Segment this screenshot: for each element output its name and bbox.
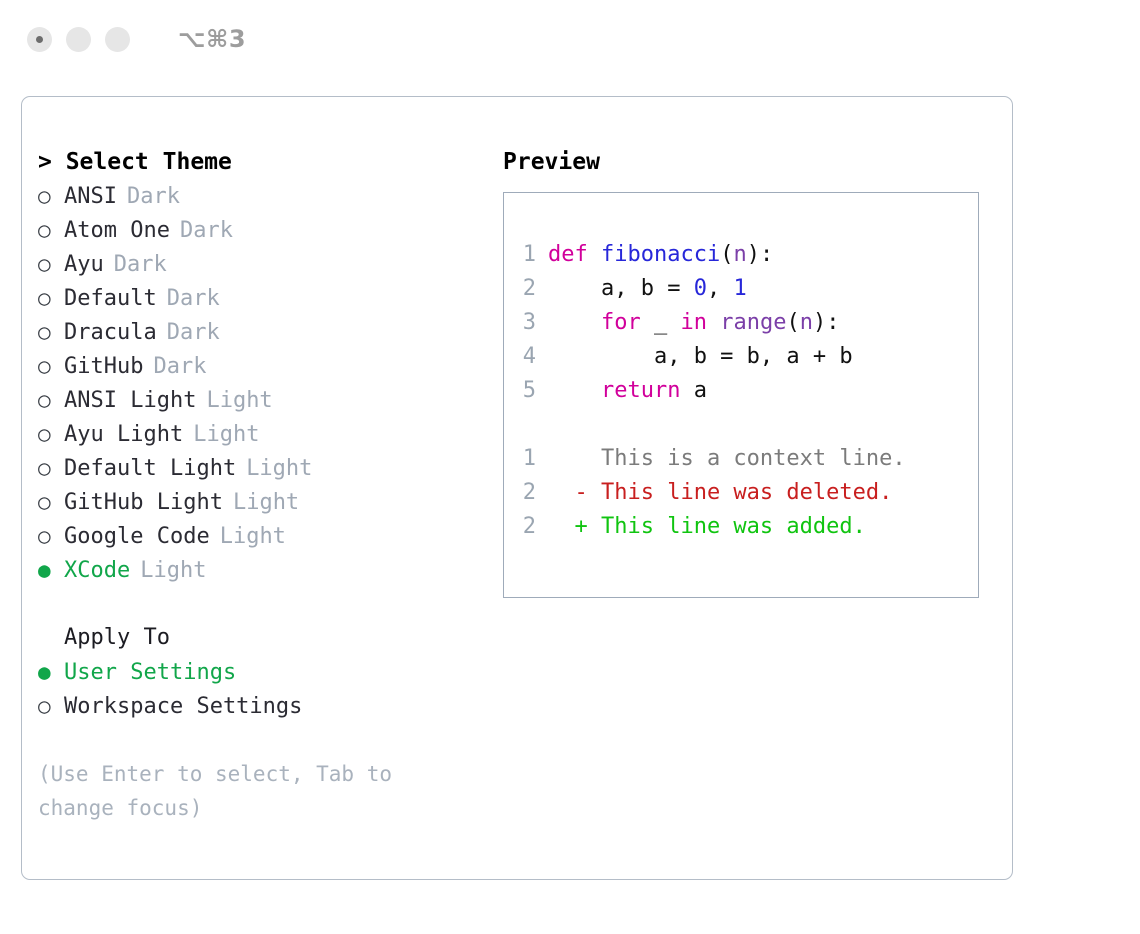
theme-option-kind: Dark bbox=[180, 214, 233, 248]
theme-selection-column: > Select Theme ○ANSIDark○Atom OneDark○Ay… bbox=[38, 145, 488, 825]
code-token-punc: , bbox=[707, 276, 734, 301]
code-token-var: range bbox=[720, 310, 786, 335]
apply-to-option-workspace-settings[interactable]: ○Workspace Settings bbox=[38, 689, 488, 723]
theme-option-name: Default bbox=[64, 282, 157, 316]
diff-line-text: This is a context line. bbox=[548, 442, 906, 476]
theme-option-name: Ayu bbox=[64, 248, 104, 282]
theme-option-kind: Light bbox=[220, 520, 286, 554]
theme-option-dracula[interactable]: ○DraculaDark bbox=[38, 315, 488, 349]
code-token-punc bbox=[548, 310, 601, 335]
radio-selected-icon: ● bbox=[38, 553, 64, 587]
maximize-button-icon[interactable] bbox=[105, 27, 130, 52]
select-theme-header: > Select Theme bbox=[38, 145, 488, 179]
theme-option-name: XCode bbox=[64, 554, 130, 588]
radio-unselected-icon: ○ bbox=[38, 349, 64, 383]
radio-unselected-icon: ○ bbox=[38, 213, 64, 247]
apply-to-option-label: User Settings bbox=[64, 656, 236, 690]
code-token-punc bbox=[548, 378, 601, 403]
radio-unselected-icon: ○ bbox=[38, 451, 64, 485]
theme-option-kind: Light bbox=[233, 486, 299, 520]
theme-option-name: GitHub bbox=[64, 350, 143, 384]
apply-to-header: Apply To bbox=[38, 621, 488, 655]
code-token-punc: ): bbox=[813, 310, 840, 335]
window-controls bbox=[27, 27, 130, 52]
theme-option-name: Default Light bbox=[64, 452, 236, 486]
theme-list[interactable]: ○ANSIDark○Atom OneDark○AyuDark○DefaultDa… bbox=[38, 179, 488, 587]
keyboard-hint-text: (Use Enter to select, Tab to change focu… bbox=[38, 757, 458, 825]
code-line: 2 a, b = 0, 1 bbox=[504, 272, 978, 306]
theme-option-kind: Dark bbox=[114, 248, 167, 282]
theme-option-ayu[interactable]: ○AyuDark bbox=[38, 247, 488, 281]
theme-option-github-light[interactable]: ○GitHub LightLight bbox=[38, 485, 488, 519]
theme-option-kind: Light bbox=[206, 384, 272, 418]
diff-sample: 1 This is a context line.2 - This line w… bbox=[504, 442, 978, 544]
code-token-punc: ( bbox=[720, 242, 733, 267]
theme-option-kind: Dark bbox=[167, 316, 220, 350]
code-line: 3 for _ in range(n): bbox=[504, 306, 978, 340]
code-line: 4 a, b = b, a + b bbox=[504, 340, 978, 374]
theme-option-kind: Light bbox=[140, 554, 206, 588]
code-line-text: def fibonacci(n): bbox=[548, 238, 773, 272]
radio-unselected-icon: ○ bbox=[38, 247, 64, 281]
diff-line: 2 + This line was added. bbox=[504, 510, 978, 544]
code-token-kw: def bbox=[548, 242, 601, 267]
theme-option-name: GitHub Light bbox=[64, 486, 223, 520]
code-line: 5 return a bbox=[504, 374, 978, 408]
code-line: 1def fibonacci(n): bbox=[504, 238, 978, 272]
theme-option-name: ANSI Light bbox=[64, 384, 196, 418]
window-titlebar: ⌥⌘3 bbox=[0, 0, 1140, 78]
theme-option-name: Google Code bbox=[64, 520, 210, 554]
apply-to-option-label: Workspace Settings bbox=[64, 690, 302, 724]
theme-option-kind: Dark bbox=[167, 282, 220, 316]
radio-unselected-icon: ○ bbox=[38, 417, 64, 451]
radio-unselected-icon: ○ bbox=[38, 383, 64, 417]
apply-to-options[interactable]: ●User Settings○Workspace Settings bbox=[38, 655, 488, 723]
code-token-fn: fibonacci bbox=[601, 242, 720, 267]
theme-option-kind: Light bbox=[193, 418, 259, 452]
code-line-text: return a bbox=[548, 374, 707, 408]
code-line-number: 3 bbox=[504, 306, 548, 340]
theme-option-name: Ayu Light bbox=[64, 418, 183, 452]
window-title: ⌥⌘3 bbox=[178, 25, 246, 53]
diff-line-number: 2 bbox=[504, 510, 548, 544]
code-token-kw: for bbox=[601, 310, 641, 335]
main-panel: > Select Theme ○ANSIDark○Atom OneDark○Ay… bbox=[21, 96, 1013, 880]
theme-option-xcode[interactable]: ●XCodeLight bbox=[38, 553, 488, 587]
code-line-number: 4 bbox=[504, 340, 548, 374]
theme-option-ansi[interactable]: ○ANSIDark bbox=[38, 179, 488, 213]
theme-option-name: ANSI bbox=[64, 180, 117, 214]
theme-option-ansi-light[interactable]: ○ANSI LightLight bbox=[38, 383, 488, 417]
code-token-punc: ): bbox=[747, 242, 774, 267]
code-diff-separator bbox=[504, 408, 978, 442]
radio-unselected-icon: ○ bbox=[38, 689, 64, 723]
diff-line-number: 1 bbox=[504, 442, 548, 476]
radio-unselected-icon: ○ bbox=[38, 315, 64, 349]
code-line-number: 5 bbox=[504, 374, 548, 408]
theme-option-default-light[interactable]: ○Default LightLight bbox=[38, 451, 488, 485]
diff-line: 1 This is a context line. bbox=[504, 442, 978, 476]
preview-box: 1def fibonacci(n):2 a, b = 0, 13 for _ i… bbox=[503, 192, 979, 598]
code-line-number: 2 bbox=[504, 272, 548, 306]
code-token-num: 1 bbox=[733, 276, 746, 301]
code-token-punc bbox=[707, 310, 720, 335]
theme-option-kind: Light bbox=[246, 452, 312, 486]
code-sample: 1def fibonacci(n):2 a, b = 0, 13 for _ i… bbox=[504, 238, 978, 408]
apply-to-option-user-settings[interactable]: ●User Settings bbox=[38, 655, 488, 689]
code-token-var: n bbox=[733, 242, 746, 267]
radio-unselected-icon: ○ bbox=[38, 519, 64, 553]
code-token-kw: in bbox=[680, 310, 707, 335]
theme-option-github[interactable]: ○GitHubDark bbox=[38, 349, 488, 383]
code-line-text: a, b = 0, 1 bbox=[548, 272, 747, 306]
code-token-punc: a bbox=[680, 378, 707, 403]
code-line-number: 1 bbox=[504, 238, 548, 272]
diff-line-number: 2 bbox=[504, 476, 548, 510]
apply-to-section: Apply To ●User Settings○Workspace Settin… bbox=[38, 621, 488, 723]
code-token-num: 0 bbox=[694, 276, 707, 301]
minimize-button-icon[interactable] bbox=[66, 27, 91, 52]
code-line-text: for _ in range(n): bbox=[548, 306, 839, 340]
theme-option-name: Dracula bbox=[64, 316, 157, 350]
theme-option-kind: Dark bbox=[153, 350, 206, 384]
code-token-punc: a, b = bbox=[548, 276, 694, 301]
radio-unselected-icon: ○ bbox=[38, 281, 64, 315]
code-token-punc: a, b = b, a + b bbox=[548, 344, 853, 369]
radio-unselected-icon: ○ bbox=[38, 179, 64, 213]
radio-unselected-icon: ○ bbox=[38, 485, 64, 519]
theme-option-ayu-light[interactable]: ○Ayu LightLight bbox=[38, 417, 488, 451]
code-token-punc: ( bbox=[786, 310, 799, 335]
diff-line-text: + This line was added. bbox=[548, 510, 866, 544]
theme-option-name: Atom One bbox=[64, 214, 170, 248]
diff-line-text: - This line was deleted. bbox=[548, 476, 892, 510]
app-window: ⌥⌘3 > Select Theme ○ANSIDark○Atom OneDar… bbox=[0, 0, 1140, 934]
code-token-var: n bbox=[800, 310, 813, 335]
theme-option-atom-one[interactable]: ○Atom OneDark bbox=[38, 213, 488, 247]
close-button-icon[interactable] bbox=[27, 27, 52, 52]
preview-column: Preview 1def fibonacci(n):2 a, b = 0, 13… bbox=[503, 145, 1003, 598]
close-dot-icon bbox=[36, 36, 43, 43]
code-token-kw: return bbox=[601, 378, 680, 403]
theme-option-default[interactable]: ○DefaultDark bbox=[38, 281, 488, 315]
radio-selected-icon: ● bbox=[38, 655, 64, 689]
diff-line: 2 - This line was deleted. bbox=[504, 476, 978, 510]
code-token-punc: _ bbox=[641, 310, 681, 335]
code-line-text: a, b = b, a + b bbox=[548, 340, 853, 374]
preview-header: Preview bbox=[503, 145, 1003, 179]
theme-option-kind: Dark bbox=[127, 180, 180, 214]
theme-option-google-code[interactable]: ○Google CodeLight bbox=[38, 519, 488, 553]
